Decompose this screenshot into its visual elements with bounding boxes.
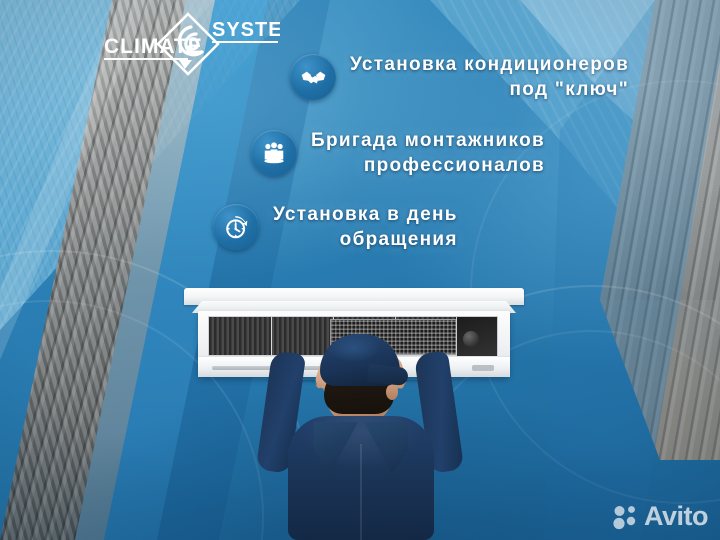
avito-watermark: Avito xyxy=(613,503,708,530)
vignette-overlay xyxy=(0,0,720,540)
advertisement-banner: CLIMATE SYSTEMS Установка кондици xyxy=(0,0,720,540)
avito-dots-icon xyxy=(613,504,639,530)
avito-wordmark: Avito xyxy=(644,503,708,530)
